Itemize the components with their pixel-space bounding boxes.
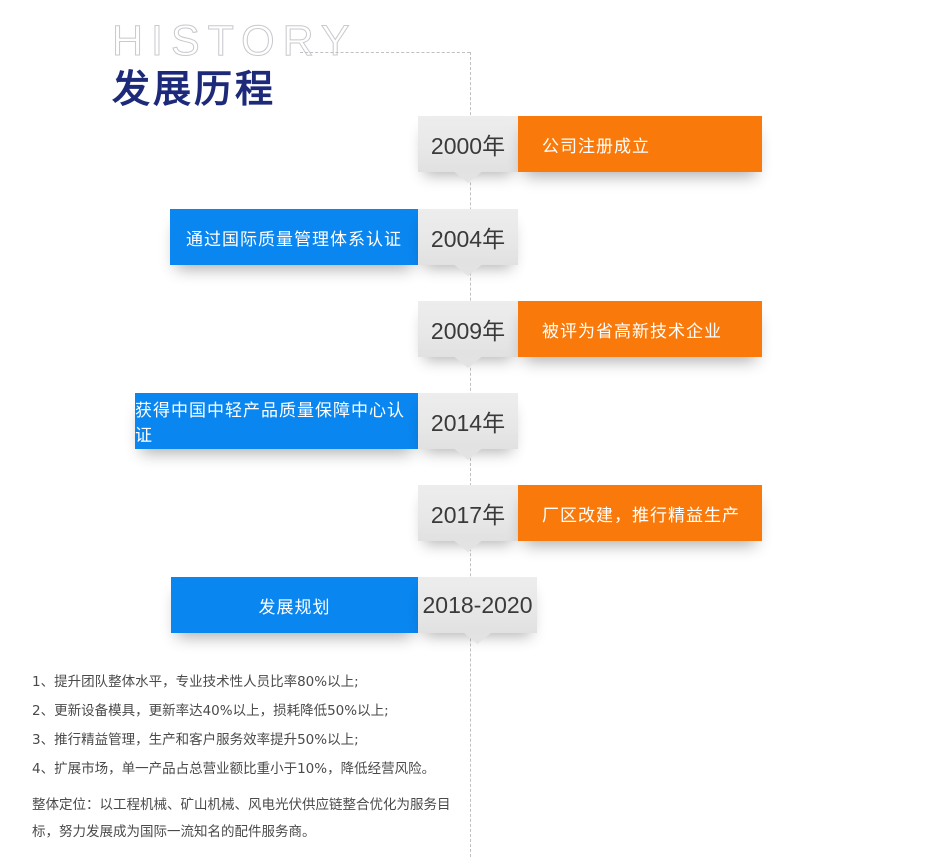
timeline-node-notch — [451, 169, 485, 183]
timeline-row: 2017年厂区改建，推行精益生产 — [418, 485, 762, 541]
dashed-elbow-horizontal — [300, 52, 470, 53]
timeline-node-notch — [451, 446, 485, 460]
history-word-en: HISTORY — [112, 18, 358, 64]
timeline-event-block[interactable]: 发展规划 — [171, 577, 418, 633]
notes-block: 1、提升团队整体水平，专业技术性人员比率80%以上;2、更新设备模具，更新率达4… — [32, 668, 462, 846]
timeline-event-block[interactable]: 厂区改建，推行精益生产 — [518, 485, 762, 541]
timeline-event-block[interactable]: 公司注册成立 — [518, 116, 762, 172]
note-item: 4、扩展市场，单一产品占总营业额比重小于10%，降低经营风险。 — [32, 755, 462, 784]
page-title: 发展历程 — [112, 66, 358, 112]
timeline-year-label: 2009年 — [431, 312, 505, 346]
timeline-event-label: 通过国际质量管理体系认证 — [186, 225, 402, 250]
timeline-event-label: 被评为省高新技术企业 — [542, 317, 722, 342]
timeline-row: 通过国际质量管理体系认证2004年 — [170, 209, 518, 265]
timeline-year-block[interactable]: 2018-2020 — [418, 577, 537, 633]
timeline-year-block[interactable]: 2014年 — [418, 393, 518, 449]
timeline-node-notch — [451, 538, 485, 552]
timeline-event-block[interactable]: 被评为省高新技术企业 — [518, 301, 762, 357]
timeline-year-block[interactable]: 2004年 — [418, 209, 518, 265]
timeline-row: 2009年被评为省高新技术企业 — [418, 301, 762, 357]
timeline-year-label: 2014年 — [431, 404, 505, 438]
notes-summary: 整体定位：以工程机械、矿山机械、风电光伏供应链整合优化为服务目标，努力发展成为国… — [32, 792, 462, 846]
timeline-year-label: 2018-2020 — [423, 592, 533, 619]
timeline-row: 发展规划2018-2020 — [171, 577, 537, 633]
timeline-year-label: 2004年 — [431, 220, 505, 254]
timeline-year-block[interactable]: 2017年 — [418, 485, 518, 541]
note-item: 3、推行精益管理，生产和客户服务效率提升50%以上; — [32, 726, 462, 755]
note-item: 1、提升团队整体水平，专业技术性人员比率80%以上; — [32, 668, 462, 697]
timeline-event-label: 获得中国中轻产品质量保障中心认证 — [135, 396, 418, 446]
timeline-event-block[interactable]: 通过国际质量管理体系认证 — [170, 209, 418, 265]
timeline-event-label: 厂区改建，推行精益生产 — [542, 501, 740, 526]
timeline-node-notch — [461, 630, 495, 644]
timeline-year-label: 2000年 — [431, 127, 505, 161]
timeline-row: 获得中国中轻产品质量保障中心认证2014年 — [135, 393, 518, 449]
timeline-event-label: 公司注册成立 — [542, 132, 650, 157]
timeline-node-notch — [451, 354, 485, 368]
timeline-event-label: 发展规划 — [259, 593, 331, 618]
timeline-year-label: 2017年 — [431, 496, 505, 530]
timeline-year-block[interactable]: 2000年 — [418, 116, 518, 172]
timeline-row: 2000年公司注册成立 — [418, 116, 762, 172]
timeline-year-block[interactable]: 2009年 — [418, 301, 518, 357]
page-header: HISTORY 发展历程 — [112, 18, 358, 112]
note-item: 2、更新设备模具，更新率达40%以上，损耗降低50%以上; — [32, 697, 462, 726]
history-infographic: HISTORY 发展历程 2000年公司注册成立通过国际质量管理体系认证2004… — [0, 0, 940, 857]
timeline-event-block[interactable]: 获得中国中轻产品质量保障中心认证 — [135, 393, 418, 449]
timeline-node-notch — [451, 262, 485, 276]
